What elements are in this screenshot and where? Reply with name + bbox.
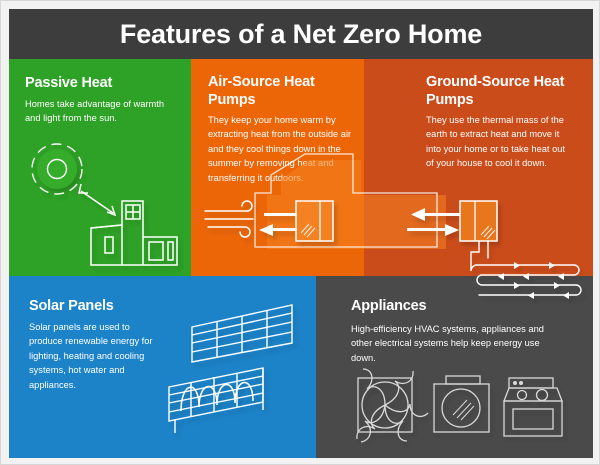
central-house-shape [255, 154, 446, 249]
stove-icon [504, 378, 562, 436]
heat-pump-unit-icon [296, 201, 333, 241]
ground-loop-icon [471, 241, 581, 299]
double-arrow-icon [79, 184, 115, 215]
sun-icon [32, 144, 82, 194]
hvac-fan-icon [357, 369, 428, 442]
wind-icon [205, 201, 253, 237]
house-icon [91, 201, 177, 265]
washing-machine-icon [434, 376, 489, 432]
appliances-illustration [357, 369, 562, 442]
infographic-canvas: Features of a Net Zero Home Passive Heat… [9, 9, 593, 458]
solar-panels-illustration [169, 305, 292, 433]
infographic-frame: Features of a Net Zero Home Passive Heat… [0, 0, 600, 465]
solar-panel-pv-icon [192, 305, 292, 362]
passive-heat-illustration [32, 144, 177, 265]
heat-pump-unit-icon-2 [460, 201, 497, 241]
illustration-layer [9, 9, 593, 458]
ground-source-illustration [407, 201, 581, 299]
solar-panel-thermal-icon [169, 368, 263, 433]
